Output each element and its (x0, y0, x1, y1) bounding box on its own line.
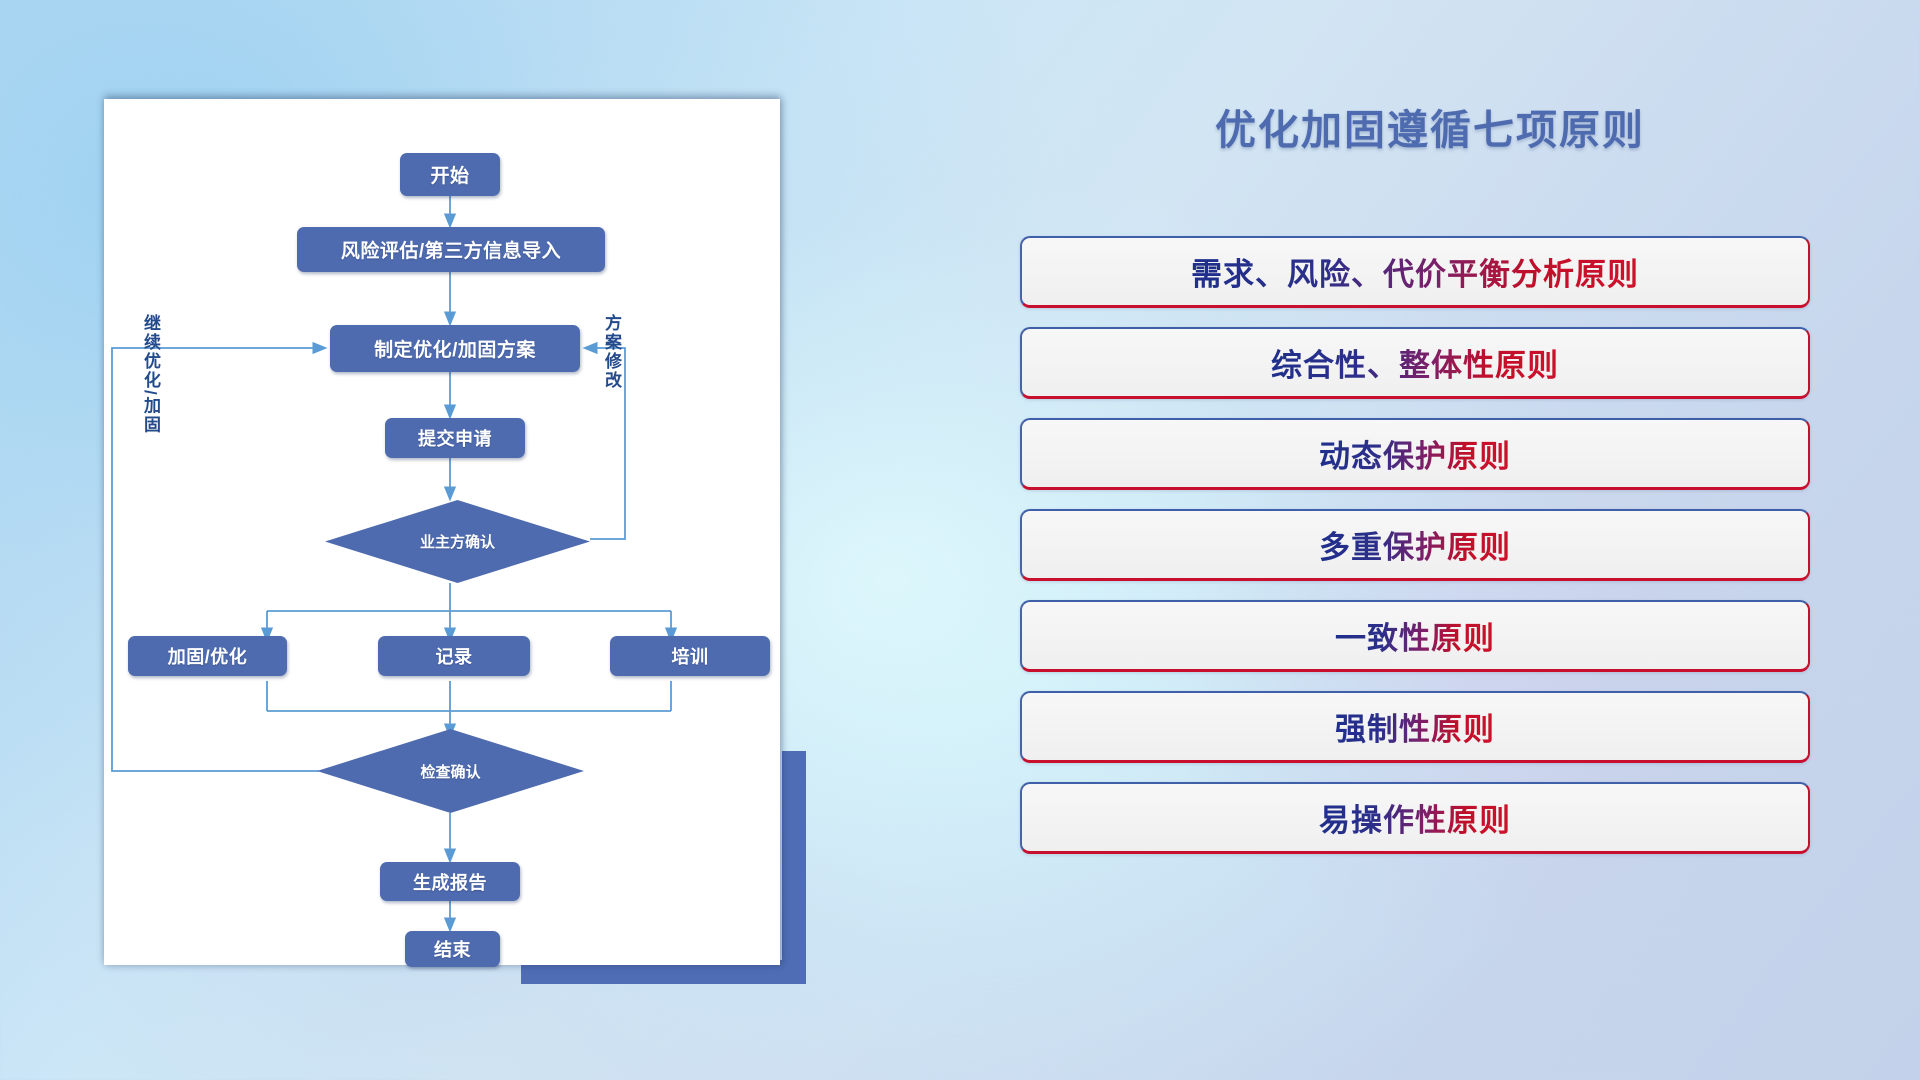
flow-node-label: 记录 (436, 643, 473, 669)
principle-label: 多重保护原则 (1319, 522, 1511, 567)
flow-node-inspection-confirm[interactable]: 检查确认 (317, 729, 584, 813)
flow-node-record[interactable]: 记录 (378, 636, 530, 676)
flow-node-label: 风险评估/第三方信息导入 (341, 236, 561, 263)
principle-label: 需求、风险、代价平衡分析原则 (1191, 249, 1639, 294)
flow-node-label: 生成报告 (413, 869, 487, 895)
principle-item-4[interactable]: 多重保护原则 (1020, 509, 1810, 581)
flow-node-training[interactable]: 培训 (610, 636, 770, 676)
flow-node-reinforce-optimize[interactable]: 加固/优化 (128, 636, 287, 676)
flow-node-label: 开始 (430, 161, 469, 188)
principle-label: 强制性原则 (1335, 704, 1495, 749)
principles-panel: 优化加固遵循七项原则 需求、风险、代价平衡分析原则 综合性、整体性原则 动态保护… (1020, 96, 1840, 996)
flow-node-label: 业主方确认 (420, 531, 495, 552)
flow-node-risk-assessment[interactable]: 风险评估/第三方信息导入 (297, 227, 605, 272)
flow-node-start[interactable]: 开始 (400, 153, 500, 196)
principle-item-7[interactable]: 易操作性原则 (1020, 782, 1810, 854)
principle-item-3[interactable]: 动态保护原则 (1020, 418, 1810, 490)
principle-item-2[interactable]: 综合性、整体性原则 (1020, 327, 1810, 399)
principle-label: 动态保护原则 (1319, 431, 1511, 476)
flow-node-generate-report[interactable]: 生成报告 (380, 862, 520, 901)
flow-node-label: 加固/优化 (168, 643, 248, 669)
flowchart: 开始 风险评估/第三方信息导入 制定优化/加固方案 提交申请 业主方确认 加固/… (104, 99, 780, 965)
flow-node-label: 培训 (672, 643, 709, 669)
flow-node-label: 制定优化/加固方案 (374, 335, 536, 362)
principle-label: 综合性、整体性原则 (1271, 340, 1559, 385)
flow-node-label: 检查确认 (420, 761, 480, 782)
flow-node-make-plan[interactable]: 制定优化/加固方案 (330, 325, 580, 372)
flow-node-submit-application[interactable]: 提交申请 (385, 418, 525, 458)
principle-item-1[interactable]: 需求、风险、代价平衡分析原则 (1020, 236, 1810, 308)
flow-node-label: 结束 (434, 936, 471, 962)
principle-label: 一致性原则 (1335, 613, 1495, 658)
principle-label: 易操作性原则 (1319, 795, 1511, 840)
flow-node-owner-confirmation[interactable]: 业主方确认 (325, 500, 590, 583)
principle-item-5[interactable]: 一致性原则 (1020, 600, 1810, 672)
edge-label-plan-revision: 方案修改 (599, 314, 624, 390)
flow-node-end[interactable]: 结束 (405, 931, 500, 967)
panel-title: 优化加固遵循七项原则 (1020, 96, 1840, 156)
principle-item-6[interactable]: 强制性原则 (1020, 691, 1810, 763)
edge-label-continue-optimize: 继续优化/加固 (138, 314, 163, 435)
accent-rectangle-right (782, 751, 806, 984)
flow-node-label: 提交申请 (418, 425, 492, 451)
flowchart-card: 开始 风险评估/第三方信息导入 制定优化/加固方案 提交申请 业主方确认 加固/… (104, 99, 780, 965)
